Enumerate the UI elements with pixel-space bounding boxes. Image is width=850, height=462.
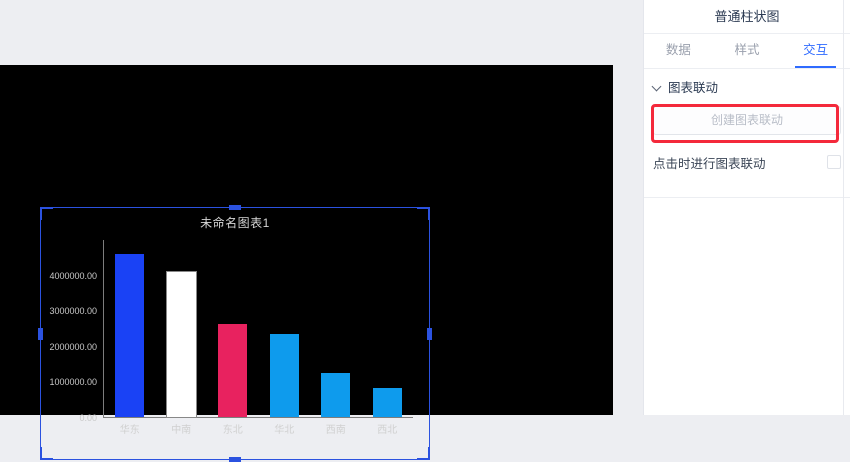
bar[interactable] — [167, 272, 196, 417]
selection-handle-top-left[interactable] — [40, 207, 53, 220]
selection-handle-left[interactable] — [38, 328, 43, 340]
panel-tabs: 数据 样式 交互 — [644, 34, 850, 69]
bar[interactable] — [270, 334, 299, 417]
y-tick-label: 3000000.00 — [49, 306, 97, 316]
bar-series — [104, 240, 413, 417]
panel-title: 普通柱状图 — [644, 0, 850, 34]
selection-handle-top[interactable] — [229, 205, 241, 210]
x-axis-labels: 华东中南东北华北西南西北 — [104, 421, 413, 436]
bar-slot — [104, 240, 156, 417]
selection-handle-bottom-right[interactable] — [417, 447, 430, 460]
bar-slot — [362, 240, 414, 417]
create-chart-linkage-button[interactable]: 创建图表联动 — [653, 106, 841, 135]
x-tick-label: 东北 — [207, 421, 259, 436]
y-tick-label: 1000000.00 — [49, 377, 97, 387]
tab-interaction[interactable]: 交互 — [781, 34, 850, 68]
chart-title: 未命名图表1 — [41, 214, 429, 231]
x-tick-label: 华东 — [104, 421, 156, 436]
selection-handle-right[interactable] — [427, 328, 432, 340]
bar[interactable] — [321, 373, 350, 417]
selection-handle-bottom[interactable] — [229, 457, 241, 462]
x-tick-label: 中南 — [156, 421, 208, 436]
chart-selection-frame[interactable]: 未命名图表1 0.001000000.002000000.003000000.0… — [40, 207, 430, 460]
workspace: 未命名图表1 0.001000000.002000000.003000000.0… — [0, 0, 643, 415]
x-tick-label: 西南 — [310, 421, 362, 436]
selection-handle-top-right[interactable] — [417, 207, 430, 220]
y-tick-label: 4000000.00 — [49, 271, 97, 281]
section-chart-linkage-label: 图表联动 — [668, 77, 718, 96]
bar-slot — [310, 240, 362, 417]
panel-section-divider — [644, 197, 850, 198]
chart-canvas[interactable]: 未命名图表1 0.001000000.002000000.003000000.0… — [0, 65, 613, 415]
tab-style[interactable]: 样式 — [713, 34, 782, 68]
bar[interactable] — [373, 388, 402, 417]
chevron-down-icon — [653, 82, 662, 91]
tab-data[interactable]: 数据 — [644, 34, 713, 68]
selection-handle-bottom-left[interactable] — [40, 447, 53, 460]
properties-panel: 普通柱状图 数据 样式 交互 图表联动 创建图表联动 点击时进行图表联动 — [643, 0, 850, 415]
y-tick-label: 2000000.00 — [49, 342, 97, 352]
click-linkage-row: 点击时进行图表联动 — [653, 149, 841, 175]
app-root: 未命名图表1 0.001000000.002000000.003000000.0… — [0, 0, 850, 415]
bar-slot — [207, 240, 259, 417]
bar-slot — [156, 240, 208, 417]
panel-right-divider — [843, 0, 844, 415]
click-linkage-checkbox[interactable] — [827, 155, 841, 169]
click-linkage-label: 点击时进行图表联动 — [653, 153, 766, 172]
x-tick-label: 西北 — [362, 421, 414, 436]
bar[interactable] — [115, 254, 144, 417]
chart-plot-area: 0.001000000.002000000.003000000.00400000… — [103, 240, 413, 418]
section-chart-linkage-header[interactable]: 图表联动 — [644, 69, 850, 102]
bar-slot — [259, 240, 311, 417]
x-tick-label: 华北 — [259, 421, 311, 436]
bar[interactable] — [218, 324, 247, 417]
x-axis-line — [103, 417, 413, 418]
